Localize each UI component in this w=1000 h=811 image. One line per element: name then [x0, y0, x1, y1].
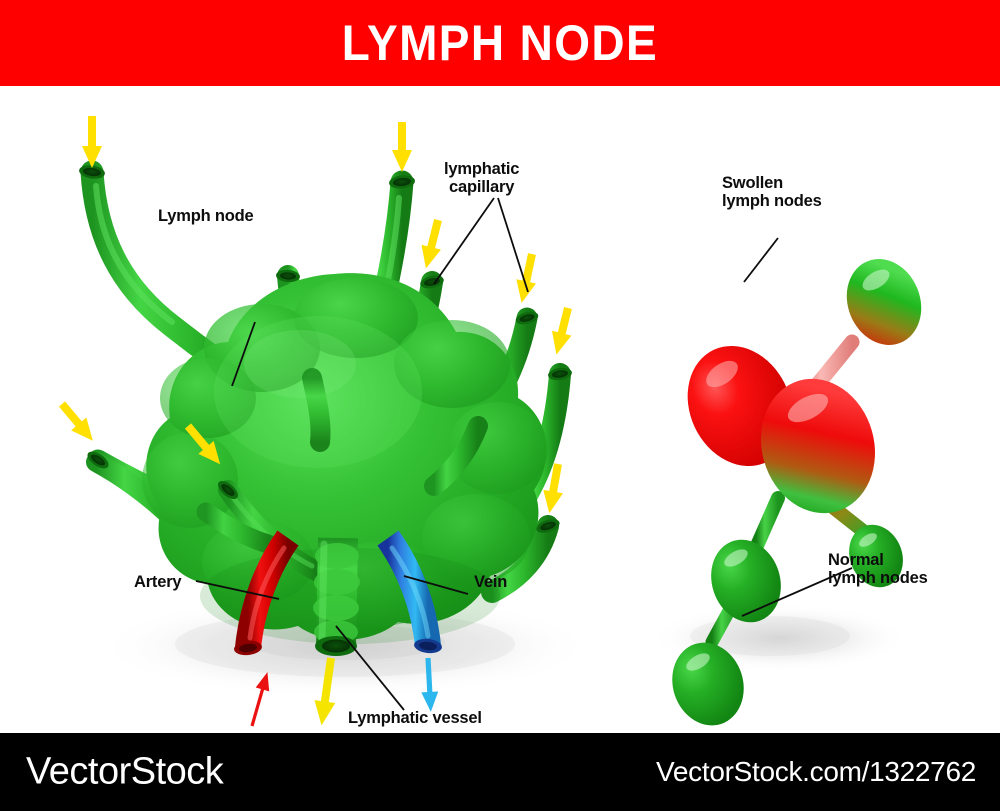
footer-bar: VectorStock VectorStock.com/1322762: [0, 733, 1000, 811]
label-vein: Vein: [474, 573, 507, 591]
footer-brand: VectorStock: [26, 751, 223, 794]
vessel-lower-left-green: [756, 498, 778, 548]
label-lymphatic-vessel: Lymphatic vessel: [348, 709, 482, 727]
label-lymphatic-capillary: lymphatic capillary: [444, 160, 519, 197]
label-lymph-node: Lymph node: [158, 207, 253, 225]
leader-capillary-b: [498, 198, 528, 292]
leader-capillary-a: [434, 198, 494, 284]
footer-url: VectorStock.com/1322762: [656, 756, 976, 788]
leader-swollen: [744, 238, 778, 282]
label-normal-lymph-nodes: Normal lymph nodes: [828, 551, 928, 588]
label-artery: Artery: [134, 573, 181, 591]
page-title: LYMPH NODE: [342, 18, 658, 68]
label-swollen-lymph-nodes: Swollen lymph nodes: [722, 174, 822, 211]
header-banner: LYMPH NODE: [0, 0, 1000, 86]
